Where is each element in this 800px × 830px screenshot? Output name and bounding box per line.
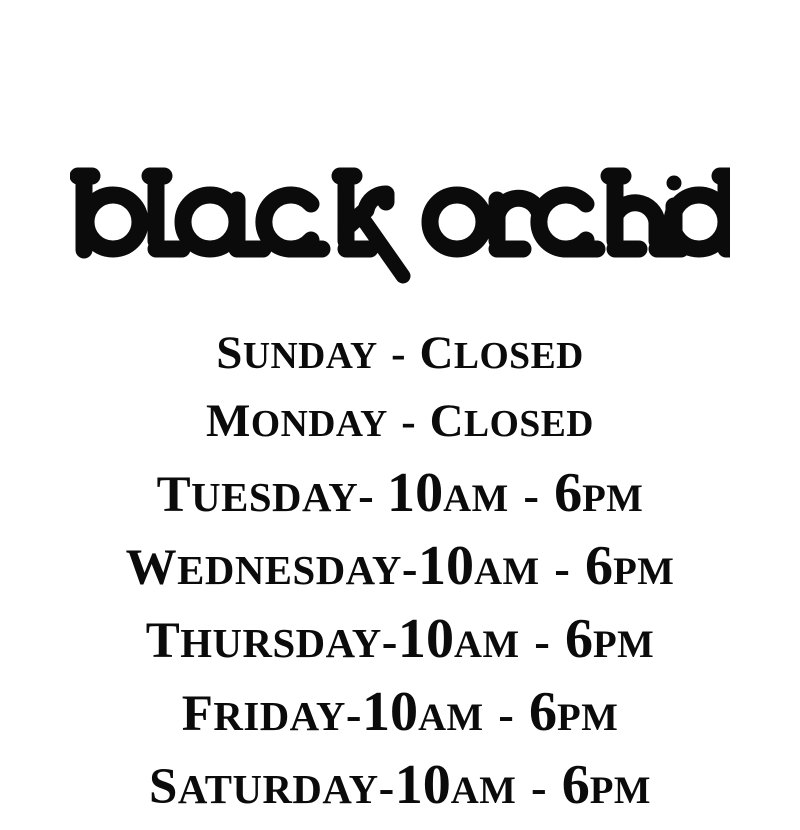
close-meridiem: PM: [582, 477, 643, 520]
separator: -: [402, 543, 418, 595]
close-time: 6: [562, 754, 590, 816]
open-meridiem: AM: [474, 550, 540, 593]
hours-list: SUNDAY - CLOSED MONDAY - CLOSED TUESDAY-…: [0, 330, 800, 813]
close-time: 6: [554, 462, 582, 524]
hours-row-monday: MONDAY - CLOSED: [0, 398, 800, 445]
day-name: ONDAY: [251, 404, 388, 445]
range-separator: -: [552, 543, 572, 595]
day-initial: T: [146, 613, 181, 669]
status-text: LOSED: [454, 336, 584, 377]
hours-row-saturday: SATURDAY-10AM - 6PM: [0, 757, 800, 813]
open-time: 10: [395, 754, 451, 816]
status-text: LOSED: [464, 404, 594, 445]
day-name: EDNESDAY: [177, 548, 402, 593]
close-meridiem: PM: [613, 550, 674, 593]
close-meridiem: PM: [593, 623, 654, 666]
range-separator: -: [521, 470, 541, 522]
hours-row-friday: FRIDAY-10AM - 6PM: [0, 684, 800, 740]
open-time: 10: [418, 535, 474, 597]
day-initial: W: [126, 540, 178, 596]
close-meridiem: PM: [590, 769, 651, 812]
open-meridiem: AM: [418, 696, 484, 739]
open-meridiem: AM: [454, 623, 520, 666]
day-initial: S: [216, 327, 243, 379]
day-name: ATURDAY: [178, 767, 379, 812]
separator: -: [382, 616, 398, 668]
open-meridiem: AM: [451, 769, 517, 812]
day-name: UNDAY: [243, 336, 378, 377]
open-time: 10: [387, 462, 443, 524]
day-name: HURSDAY: [180, 621, 382, 666]
hours-row-wednesday: WEDNESDAY-10AM - 6PM: [0, 538, 800, 594]
open-time: 10: [362, 681, 418, 743]
day-initial: S: [149, 759, 178, 815]
range-separator: -: [532, 616, 552, 668]
brand-logo-wordmark-icon: [70, 150, 730, 286]
day-initial: F: [182, 686, 214, 742]
separator: -: [389, 330, 407, 378]
open-time: 10: [398, 608, 454, 670]
close-time: 6: [529, 681, 557, 743]
day-name: RIDAY: [213, 694, 345, 739]
day-name: UESDAY: [191, 475, 358, 520]
range-separator: -: [529, 762, 549, 814]
day-initial: M: [206, 395, 251, 447]
open-meridiem: AM: [443, 477, 509, 520]
close-time: 6: [565, 608, 593, 670]
hours-row-tuesday: TUESDAY- 10AM - 6PM: [0, 465, 800, 521]
separator: -: [400, 398, 418, 446]
status-initial: C: [430, 395, 464, 447]
business-hours-sign: black orchid: [0, 0, 800, 830]
status-initial: C: [419, 327, 453, 379]
close-time: 6: [585, 535, 613, 597]
hours-row-sunday: SUNDAY - CLOSED: [0, 330, 800, 377]
day-initial: T: [157, 467, 192, 523]
brand-logo: black orchid: [0, 148, 800, 288]
separator: -: [346, 689, 362, 741]
separator: -: [358, 470, 374, 522]
close-meridiem: PM: [557, 696, 618, 739]
hours-row-thursday: THURSDAY-10AM - 6PM: [0, 611, 800, 667]
range-separator: -: [496, 689, 516, 741]
separator: -: [379, 762, 395, 814]
